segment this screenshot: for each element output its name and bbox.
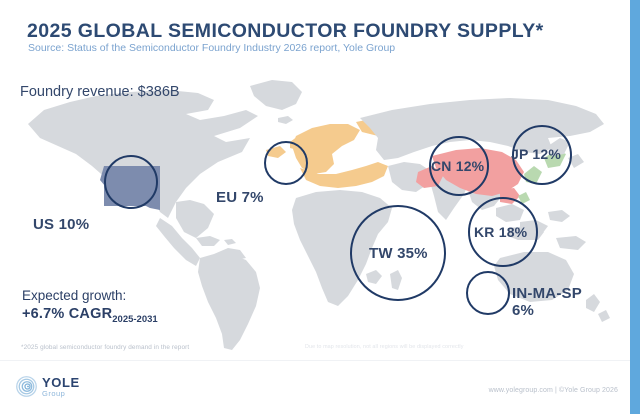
logo-wordmark: YOLE Group bbox=[42, 376, 80, 398]
revenue-callout: Foundry revenue: $386B bbox=[20, 84, 180, 100]
bubble-label-tw: TW 35% bbox=[369, 245, 428, 262]
footnote: *2025 global semiconductor foundry deman… bbox=[21, 344, 189, 351]
growth-value: +6.7% CAGR2025-2031 bbox=[22, 305, 158, 326]
bubble-us[interactable] bbox=[104, 155, 158, 209]
page-subtitle: Source: Status of the Semiconductor Foun… bbox=[28, 42, 395, 54]
spiral-icon bbox=[16, 376, 37, 397]
bubble-label-us: US 10% bbox=[33, 216, 89, 233]
logo-subtitle: Group bbox=[42, 390, 80, 398]
right-accent-bar bbox=[630, 0, 640, 414]
bubble-label-in-ma-sp-line2: 6% bbox=[512, 302, 582, 319]
growth-callout: Expected growth: +6.7% CAGR2025-2031 bbox=[22, 287, 158, 326]
bubble-in-ma-sp[interactable] bbox=[466, 271, 510, 315]
slide-canvas: 2025 GLOBAL SEMICONDUCTOR FOUNDRY SUPPLY… bbox=[0, 0, 640, 414]
bubble-label-jp: JP 12% bbox=[511, 146, 561, 162]
page-title: 2025 GLOBAL SEMICONDUCTOR FOUNDRY SUPPLY… bbox=[27, 20, 544, 43]
growth-value-text: +6.7% CAGR bbox=[22, 306, 112, 322]
bubble-label-in-ma-sp: IN-MA-SP 6% bbox=[512, 285, 582, 320]
bubble-label-cn: CN 12% bbox=[431, 158, 484, 174]
bubble-eu[interactable] bbox=[264, 141, 308, 185]
logo-name: YOLE bbox=[42, 376, 80, 389]
bubble-label-in-ma-sp-line1: IN-MA-SP bbox=[512, 285, 582, 302]
yole-logo[interactable]: YOLE Group bbox=[16, 376, 80, 398]
copyright-text: www.yolegroup.com | ©Yole Group 2026 bbox=[489, 387, 618, 394]
footer-divider bbox=[0, 360, 630, 361]
map-resolution-note: Due to map resolution, not all regions w… bbox=[305, 344, 464, 350]
growth-period: 2025-2031 bbox=[112, 314, 157, 325]
growth-label: Expected growth: bbox=[22, 287, 158, 305]
bubble-label-kr: KR 18% bbox=[474, 224, 527, 240]
bubble-label-eu: EU 7% bbox=[216, 189, 264, 206]
